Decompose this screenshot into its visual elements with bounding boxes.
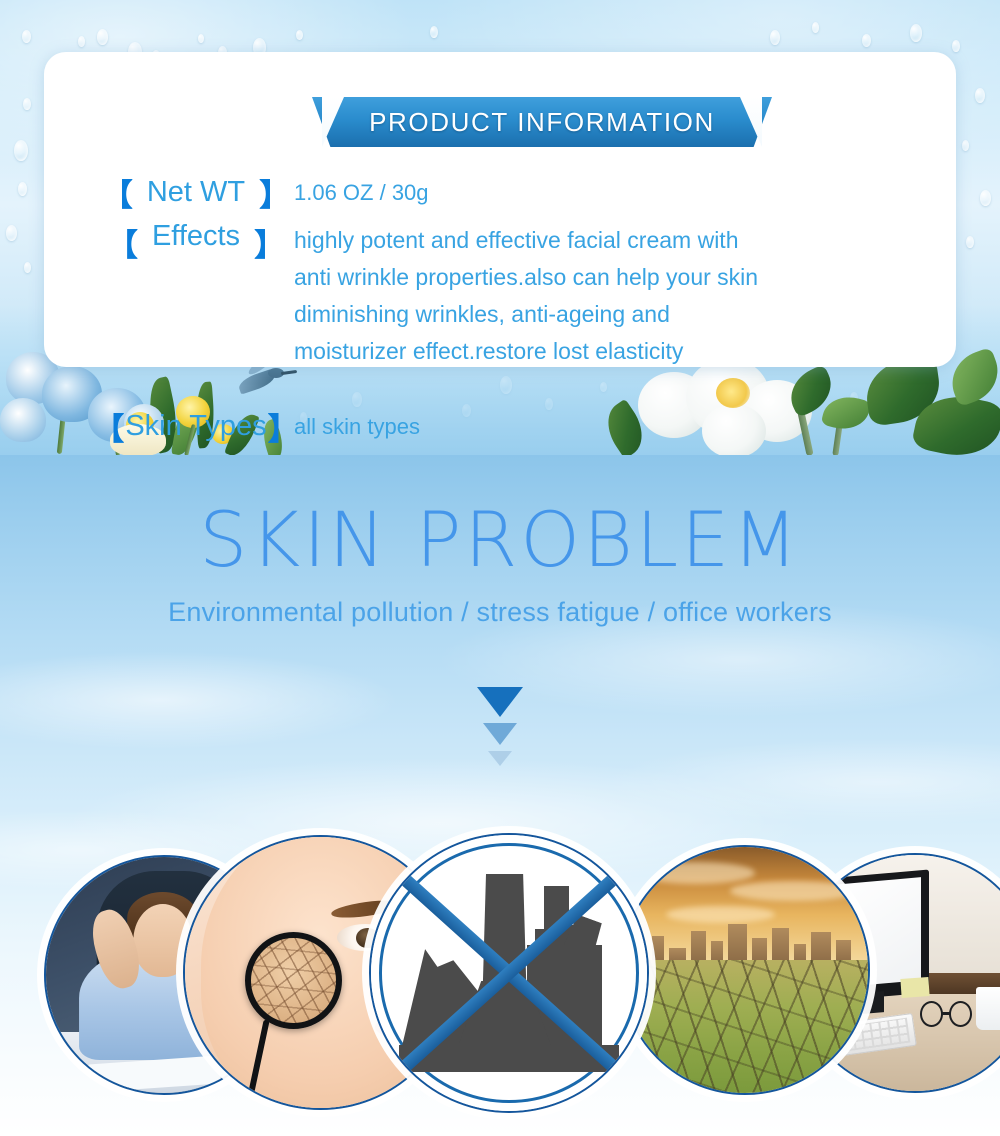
spec-list: 【 Net WT 】 1.06 OZ / 30g 【 Effects 】 hig… <box>44 170 956 452</box>
circle-no-pollution-factory <box>369 833 649 1113</box>
bracket-close-icon: 】 <box>259 170 290 215</box>
bracket-open-icon: 【 <box>107 220 138 265</box>
spec-key-skin-types: 【 Skin Types 】 <box>44 404 294 449</box>
spec-row-skin-types: 【 Skin Types 】 all skin types <box>44 404 956 449</box>
spec-key-net-wt: 【 Net WT 】 <box>44 170 294 215</box>
chevron-down-icon <box>477 687 523 717</box>
banner-title: PRODUCT INFORMATION <box>369 107 715 138</box>
skin-problem-section: SKIN PROBLEM Environmental pollution / s… <box>0 455 1000 1136</box>
effect-line: diminishing wrinkles, anti-ageing and <box>294 296 758 333</box>
skin-problem-subheading: Environmental pollution / stress fatigue… <box>0 597 1000 628</box>
spec-key-effects: 【 Effects 】 <box>44 218 294 265</box>
effect-line: moisturizer effect.restore lost elastici… <box>294 333 758 370</box>
bracket-open-icon: 【 <box>102 170 133 215</box>
cross-out-icon <box>388 852 631 1095</box>
mug-icon <box>976 987 1000 1029</box>
spec-key-label: Effects <box>138 220 254 253</box>
spec-value-skin-types: all skin types <box>294 404 420 445</box>
spec-value-net-wt: 1.06 OZ / 30g <box>294 170 429 211</box>
circle-drought-city <box>620 845 870 1095</box>
eyeglasses-icon <box>920 1001 972 1027</box>
spec-value-effects: highly potent and effective facial cream… <box>294 218 758 370</box>
spec-row-net-wt: 【 Net WT 】 1.06 OZ / 30g <box>44 170 956 215</box>
magnifier-icon <box>245 932 343 1030</box>
spec-row-effects: 【 Effects 】 highly potent and effective … <box>44 218 956 370</box>
product-information-card: PRODUCT INFORMATION 【 Net WT 】 1.06 OZ /… <box>44 52 956 367</box>
problem-image-circles <box>0 833 1000 1136</box>
product-information-banner: PRODUCT INFORMATION <box>312 97 772 147</box>
skin-problem-heading: SKIN PROBLEM <box>0 495 1000 584</box>
down-arrow-group <box>0 687 1000 766</box>
product-detail-page: PRODUCT INFORMATION 【 Net WT 】 1.06 OZ /… <box>0 0 1000 1136</box>
spec-key-label: Skin Types <box>124 410 267 443</box>
product-information-section: PRODUCT INFORMATION 【 Net WT 】 1.06 OZ /… <box>0 0 1000 455</box>
spec-key-label: Net WT <box>133 176 259 209</box>
bracket-close-icon: 】 <box>254 220 285 265</box>
effect-line: highly potent and effective facial cream… <box>294 222 758 259</box>
effect-line: anti wrinkle properties.also can help yo… <box>294 259 758 296</box>
chevron-down-icon <box>483 723 517 745</box>
chevron-down-icon <box>488 751 512 766</box>
bracket-open-icon: 【 <box>93 404 124 449</box>
